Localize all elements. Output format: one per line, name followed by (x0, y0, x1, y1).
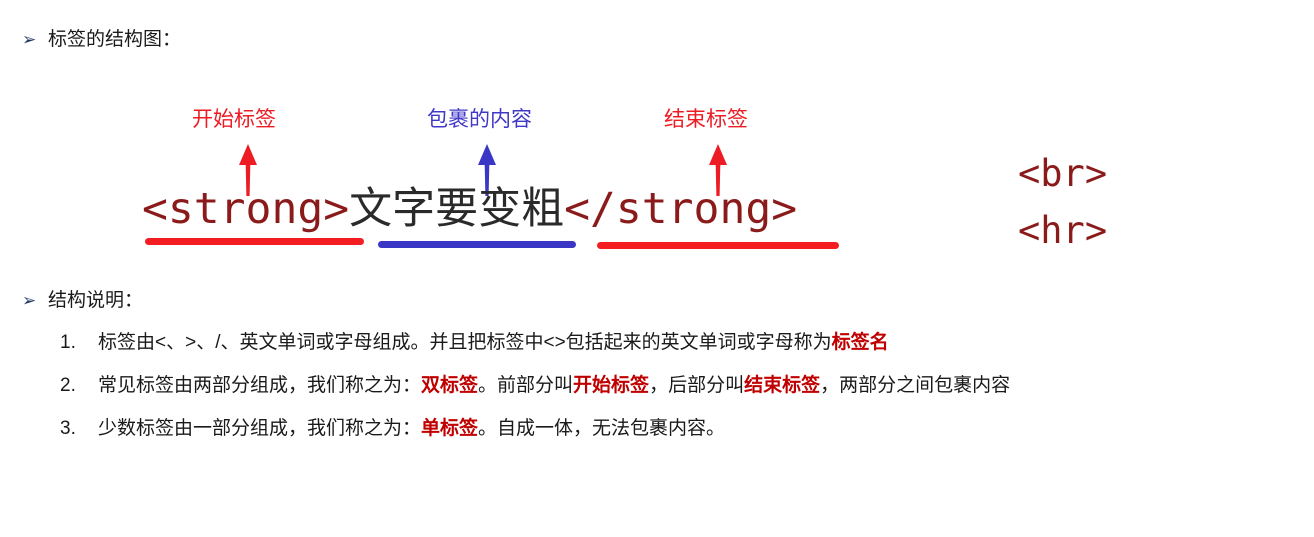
list-item: 1. 标签由<、>、/、英文单词或字母组成。并且把标签中<>包括起来的英文单词或… (60, 330, 1300, 373)
bullet-row-structure-diagram: ➢ 标签的结构图： (18, 27, 181, 53)
void-tag-hr: <hr> (1018, 202, 1107, 259)
list-item-index: 2. (60, 373, 98, 399)
annotation-label-end-tag: 结束标签 (664, 107, 748, 133)
highlighted-term: 双标签 (421, 375, 478, 396)
void-tag-examples: <br> <hr> (1018, 145, 1107, 259)
list-item-text: 标签由<、>、/、英文单词或字母组成。并且把标签中<>包括起来的英文单词或字母称… (98, 330, 889, 356)
heading-structure-desc-label: 结构说明： (48, 288, 143, 314)
highlighted-term: 标签名 (832, 332, 889, 353)
list-item-text: 少数标签由一部分组成，我们称之为：单标签。自成一体，无法包裹内容。 (98, 416, 725, 442)
list-item-text: 常见标签由两部分组成，我们称之为：双标签。前部分叫开始标签，后部分叫结束标签，两… (98, 373, 1010, 399)
underline-bar-wrapped-content (378, 241, 576, 248)
highlighted-term: 单标签 (421, 418, 478, 439)
annotation-label-start-tag: 开始标签 (192, 107, 276, 133)
plain-text-run: ，后部分叫 (649, 375, 744, 396)
arrowhead-bullet-icon: ➢ (18, 27, 48, 53)
list-item: 2. 常见标签由两部分组成，我们称之为：双标签。前部分叫开始标签，后部分叫结束标… (60, 373, 1300, 416)
structure-notes-list: 1. 标签由<、>、/、英文单词或字母组成。并且把标签中<>包括起来的英文单词或… (60, 330, 1300, 459)
example-code-line: <strong>文字要变粗</strong> (142, 183, 797, 236)
underline-bar-open-tag (145, 238, 364, 245)
plain-text-run: 。前部分叫 (478, 375, 573, 396)
code-open-tag: <strong> (142, 184, 349, 234)
void-tag-br: <br> (1018, 145, 1107, 202)
list-item-index: 1. (60, 330, 98, 356)
highlighted-term: 开始标签 (573, 375, 649, 396)
plain-text-run: 少数标签由一部分组成，我们称之为： (98, 418, 421, 439)
heading-structure-diagram-label: 标签的结构图： (48, 27, 181, 53)
tag-structure-diagram: 开始标签 包裹的内容 结束标签 <strong>文字要变粗</strong> <… (0, 95, 1314, 270)
list-item-index: 3. (60, 416, 98, 442)
bullet-row-structure-description: ➢ 结构说明： (18, 288, 143, 314)
plain-text-run: ，两部分之间包裹内容 (820, 375, 1010, 396)
underline-bar-close-tag (597, 242, 839, 249)
plain-text-run: 标签由<、>、/、英文单词或字母组成。并且把标签中<>包括起来的英文单词或字母称… (98, 332, 832, 353)
arrowhead-bullet-icon: ➢ (18, 288, 48, 314)
plain-text-run: 。自成一体，无法包裹内容。 (478, 418, 725, 439)
list-item: 3. 少数标签由一部分组成，我们称之为：单标签。自成一体，无法包裹内容。 (60, 416, 1300, 459)
highlighted-term: 结束标签 (744, 375, 820, 396)
code-wrapped-content: 文字要变粗 (349, 186, 564, 233)
plain-text-run: 常见标签由两部分组成，我们称之为： (98, 375, 421, 396)
annotation-label-wrapped-content: 包裹的内容 (427, 107, 532, 133)
code-close-tag: </strong> (564, 184, 797, 234)
